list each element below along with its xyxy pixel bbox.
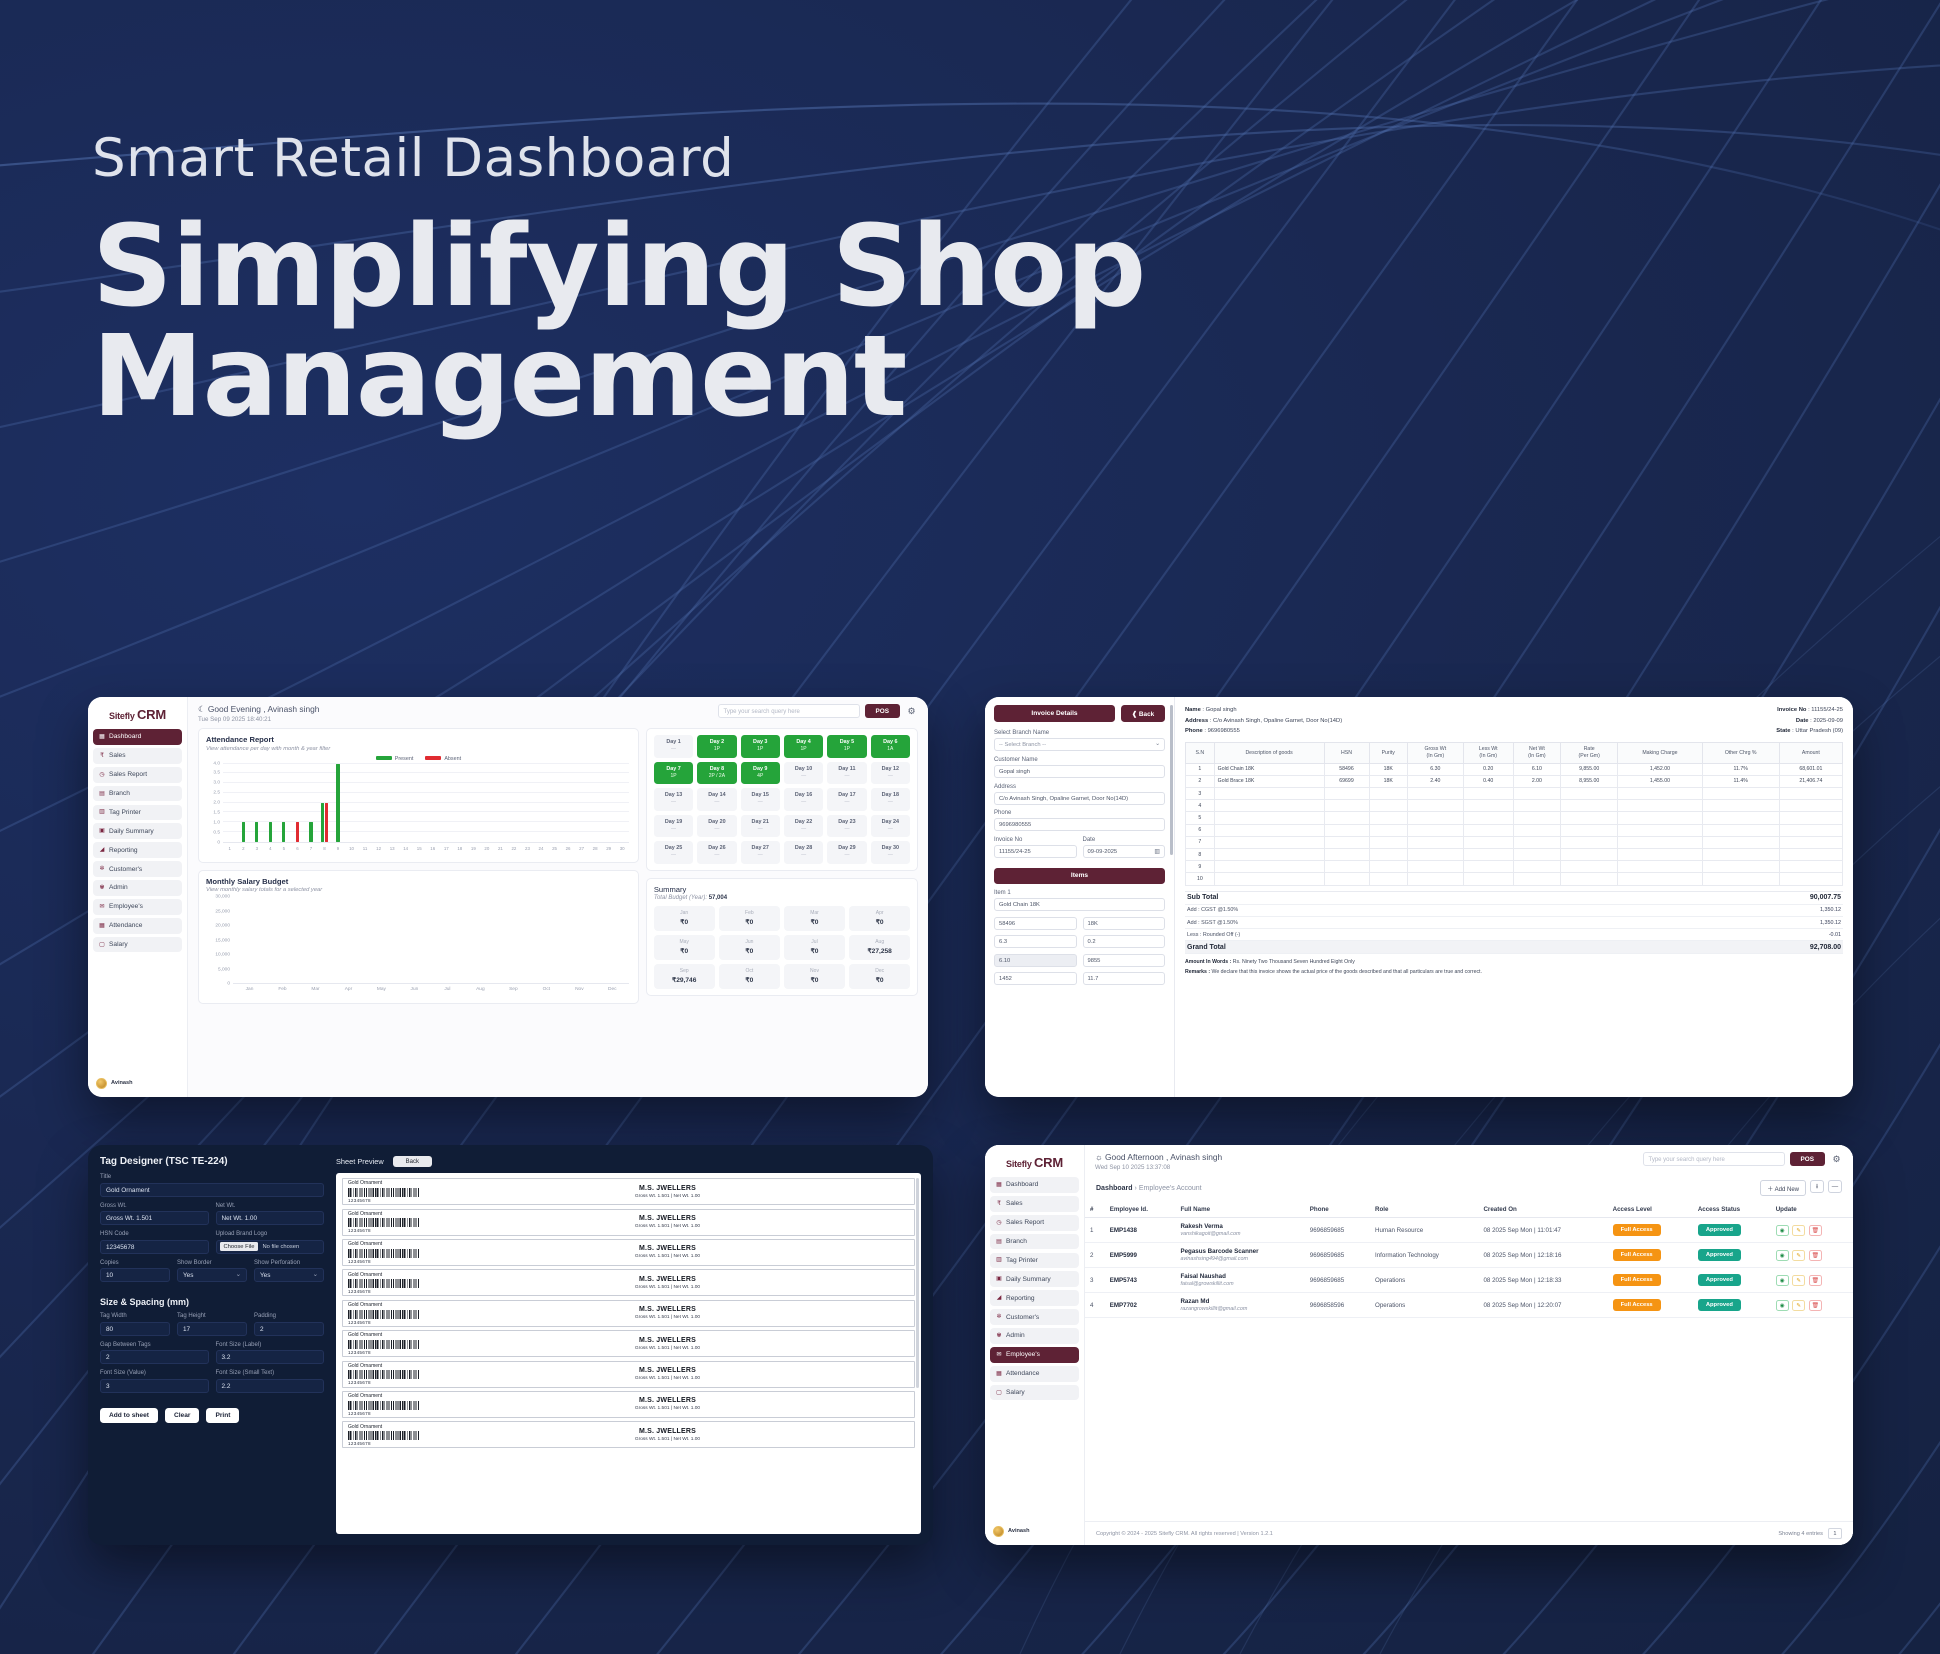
day-cell[interactable]: Day 10— (784, 762, 823, 785)
day-cell[interactable]: Day 29— (827, 841, 866, 864)
total-row: Add : SGST @1.50%1,350.12 (1185, 917, 1843, 929)
status-badge[interactable]: Approved (1698, 1299, 1741, 1311)
update-cell: ◉✎🗑 (1771, 1268, 1853, 1293)
day-cell[interactable]: Day 16— (784, 788, 823, 811)
sidebar-item-dashboard[interactable]: ▦Dashboard (93, 729, 182, 745)
item1-gross-input[interactable]: 6.3 (994, 935, 1077, 948)
day-value: — (871, 852, 910, 859)
month-label: Nov (784, 968, 845, 974)
item1-desc-input[interactable]: Gold Chain 18K (994, 898, 1165, 911)
gap-label: Gap Between Tags (100, 1342, 209, 1348)
table-cell (1463, 824, 1513, 836)
total-value: 1,350.12 (1731, 907, 1841, 913)
access-level-cell: Full Access (1608, 1293, 1693, 1318)
sidebar-item-attendance[interactable]: ▦Attendance (93, 918, 182, 934)
sidebar-item-label: Daily Summary (1006, 1276, 1051, 1283)
month-cell: Jul₹0 (784, 935, 845, 960)
sidebar-item-label: Dashboard (1006, 1181, 1038, 1188)
month-label: Feb (719, 910, 780, 916)
day-cell[interactable]: Day 23— (827, 815, 866, 838)
tag-title: Gold Ornament (348, 1241, 420, 1247)
table-cell (1513, 824, 1560, 836)
table-cell (1407, 861, 1463, 873)
print-button[interactable]: Print (206, 1408, 239, 1423)
table-cell: 0.20 (1463, 763, 1513, 775)
table-cell (1407, 848, 1463, 860)
back-button[interactable]: ❰ Back (1121, 705, 1165, 722)
sidebar-item-employee-s[interactable]: ✉Employee's (990, 1347, 1079, 1363)
gear-icon[interactable]: ⚙ (1830, 1153, 1843, 1166)
file-icon: ▣ (99, 828, 105, 834)
add-to-sheet-button[interactable]: Add to sheet (100, 1408, 158, 1423)
tag-number: 12345678 (348, 1380, 420, 1385)
sidebar-item-label: Employee's (1006, 1351, 1040, 1358)
sidebar-item-customer-s[interactable]: ✲Customer's (93, 861, 182, 877)
hsn-code-label: HSN Code (100, 1231, 209, 1237)
bar-slot (264, 764, 278, 842)
day-label: Day 27 (741, 845, 780, 852)
x-tick: 21 (494, 844, 508, 856)
legend-absent: Absent (425, 756, 461, 762)
x-tick: Jun (398, 985, 431, 997)
sidebar-item-admin[interactable]: ✾Admin (93, 880, 182, 896)
moon-icon: ☾ (198, 704, 206, 714)
pencil-icon[interactable]: ✎ (1792, 1225, 1805, 1236)
month-cell: Dec₹0 (849, 964, 910, 989)
tag-title-label: Title (100, 1174, 324, 1180)
day-cell[interactable]: Day 24— (871, 815, 910, 838)
tag-right: M.S. JWELLERSGross Wt. 1.501 | Net Wt. 1… (426, 1306, 909, 1320)
bar-absent (325, 803, 328, 842)
invoice-window: Invoice Details ❰ Back Select Branch Nam… (985, 697, 1853, 1097)
day-cell[interactable]: Day 61A (871, 735, 910, 758)
day-value: — (827, 826, 866, 833)
trash-icon[interactable]: 🗑 (1809, 1300, 1822, 1311)
x-tick: 23 (521, 844, 535, 856)
day-label: Day 7 (654, 766, 693, 773)
y-tick: 4.0 (213, 761, 220, 766)
status-badge[interactable]: Approved (1698, 1249, 1741, 1261)
pagination: Showing 4 entries 1 (1778, 1528, 1842, 1539)
net-wt-input[interactable]: Net Wt. 1.00 (216, 1211, 325, 1225)
table-cell (1324, 873, 1369, 885)
table-cell (1324, 788, 1369, 800)
table-cell: 7 (1186, 836, 1215, 848)
day-cell[interactable]: Day 41P (784, 735, 823, 758)
month-value: ₹0 (719, 918, 780, 926)
status-badge[interactable]: Approved (1698, 1224, 1741, 1236)
eye-icon[interactable]: ◉ (1776, 1250, 1789, 1261)
month-value: ₹0 (784, 947, 845, 955)
show-perforation-label: Show Perforation (254, 1260, 324, 1266)
sidebar-item-admin[interactable]: ✾Admin (990, 1328, 1079, 1344)
access-level-badge[interactable]: Full Access (1613, 1274, 1661, 1286)
access-status-cell: Approved (1693, 1268, 1771, 1293)
tag-left: Gold Ornament12345678 (348, 1363, 420, 1386)
employee-phone: 9696859685 (1305, 1218, 1370, 1243)
pos-button[interactable]: POS (1790, 1152, 1826, 1166)
gear-icon[interactable]: ⚙ (905, 705, 918, 718)
table-row: 10 (1186, 873, 1843, 885)
table-cell (1779, 836, 1842, 848)
day-cell[interactable]: Day 31P (741, 735, 780, 758)
sidebar-user[interactable]: Avinash (93, 1074, 182, 1093)
sidebar-item-customer-s[interactable]: ✲Customer's (990, 1309, 1079, 1325)
add-new-button[interactable]: ＋ Add New (1760, 1180, 1806, 1196)
bar-slot (318, 764, 332, 842)
bar-slot (467, 764, 481, 842)
eye-icon[interactable]: ◉ (1776, 1300, 1789, 1311)
x-tick: Jan (233, 985, 266, 997)
logo-file-input[interactable]: Choose File No file chosen (216, 1240, 325, 1254)
invoice-no-input[interactable]: 11155/24-25 (994, 845, 1077, 858)
app-logo: Sitefly CRM (93, 703, 182, 729)
sidebar-item-attendance[interactable]: ▦Attendance (990, 1366, 1079, 1382)
bar-present (309, 822, 312, 842)
sidebar-item-reporting[interactable]: ◢Reporting (990, 1290, 1079, 1306)
bar-slot (575, 764, 589, 842)
table-cell (1702, 800, 1779, 812)
font-size-value-input[interactable]: 3 (100, 1379, 209, 1393)
sidebar-item-employee-s[interactable]: ✉Employee's (93, 899, 182, 915)
sidebar-user[interactable]: Avinash (990, 1522, 1079, 1541)
x-tick: 25 (548, 844, 562, 856)
pencil-icon[interactable]: ✎ (1792, 1250, 1805, 1261)
trash-icon[interactable]: 🗑 (1809, 1225, 1822, 1236)
sidebar-item-branch[interactable]: ▤Branch (93, 786, 182, 802)
page-number[interactable]: 1 (1828, 1528, 1842, 1539)
bar-slot (494, 764, 508, 842)
table-cell (1561, 848, 1618, 860)
font-size-small-input[interactable]: 2.2 (216, 1379, 325, 1393)
month-value: ₹0 (719, 947, 780, 955)
tag-right: M.S. JWELLERSGross Wt. 1.501 | Net Wt. 1… (426, 1367, 909, 1381)
showing-entries: Showing 4 entries (1778, 1531, 1822, 1537)
search-input[interactable]: Type your search query here (718, 704, 860, 718)
day-cell[interactable]: Day 1— (654, 735, 693, 758)
sidebar-item-dashboard[interactable]: ▦Dashboard (990, 1177, 1079, 1193)
item1-label: Item 1 (994, 890, 1165, 896)
invoice-remarks: Remarks : We declare that this invoice s… (1185, 968, 1843, 978)
item1-purity-input[interactable]: 18K (1083, 917, 1166, 930)
trash-icon[interactable]: 🗑 (1809, 1275, 1822, 1286)
minus-icon[interactable]: — (1828, 1180, 1842, 1193)
employee-created: 08 2025 Sep Mon | 12:18:33 (1478, 1268, 1607, 1293)
day-grid: Day 1—Day 21PDay 31PDay 41PDay 51PDay 61… (654, 735, 910, 864)
barcode-icon (348, 1279, 420, 1288)
day-label: Day 14 (697, 792, 736, 799)
pencil-icon[interactable]: ✎ (1792, 1300, 1805, 1311)
tag-weights: Gross Wt. 1.501 | Net Wt. 1.00 (426, 1406, 909, 1411)
download-icon[interactable]: ⭳ (1810, 1180, 1824, 1193)
show-perforation-select[interactable]: Yes (254, 1268, 324, 1282)
column-header: Created On (1478, 1201, 1607, 1218)
sidebar-item-daily-summary[interactable]: ▣Daily Summary (93, 823, 182, 839)
table-cell: 21,406.74 (1779, 775, 1842, 787)
sidebar-item-sales-report[interactable]: ◷Sales Report (990, 1215, 1079, 1231)
item1-rate-input[interactable]: 9855 (1083, 954, 1166, 967)
day-value: — (697, 799, 736, 806)
table-cell (1561, 800, 1618, 812)
barcode-icon (348, 1249, 420, 1258)
item1-making-input[interactable]: 1452 (994, 972, 1077, 985)
font-size-label-input[interactable]: 3.2 (216, 1350, 325, 1364)
choose-file-button[interactable]: Choose File (220, 1242, 259, 1251)
summary-total-label: Total Budget (Year): (654, 895, 707, 901)
day-cell[interactable]: Day 20— (697, 815, 736, 838)
day-cell[interactable]: Day 26— (697, 841, 736, 864)
barcode-icon (348, 1218, 420, 1227)
date-input[interactable]: 09-09-2025 (1083, 845, 1166, 858)
table-cell (1618, 788, 1702, 800)
table-cell (1214, 861, 1324, 873)
column-header: Less Wt (In Gm) (1463, 743, 1513, 764)
sidebar-item-label: Branch (109, 790, 130, 797)
x-tick: Mar (299, 985, 332, 997)
sidebar-user-name: Avinash (111, 1080, 133, 1087)
item1-less-input[interactable]: 0.2 (1083, 935, 1166, 948)
total-value: 1,350.12 (1731, 920, 1841, 926)
hero-eyebrow: Smart Retail Dashboard (92, 128, 1145, 189)
attendance-subtitle: View attendance per day with month & yea… (206, 746, 631, 752)
attendance-report-card: Attendance Report View attendance per da… (198, 728, 639, 863)
column-header: Employee Id. (1105, 1201, 1176, 1218)
day-label: Day 15 (741, 792, 780, 799)
sidebar-item-sales[interactable]: ₹Sales (990, 1196, 1079, 1212)
table-cell: 10 (1186, 873, 1215, 885)
breadcrumb-separator: › (1135, 1185, 1137, 1192)
day-cell[interactable]: Day 14— (697, 788, 736, 811)
month-cell: Apr₹0 (849, 906, 910, 931)
day-label: Day 17 (827, 792, 866, 799)
trash-icon[interactable]: 🗑 (1809, 1250, 1822, 1261)
y-tick: 3.5 (213, 771, 220, 776)
table-cell (1561, 861, 1618, 873)
access-level-badge[interactable]: Full Access (1613, 1249, 1661, 1261)
address-input[interactable]: C/o Avinash Singh, Opaline Garnet, Door … (994, 792, 1165, 805)
month-label: Jan (654, 910, 715, 916)
day-cell[interactable]: Day 25— (654, 841, 693, 864)
bar-group (223, 764, 629, 842)
padding-input[interactable]: 2 (254, 1322, 324, 1336)
month-value: ₹0 (784, 918, 845, 926)
day-cell[interactable]: Day 28— (784, 841, 823, 864)
item1-hsn-input[interactable]: 58496 (994, 917, 1077, 930)
sidebar-item-label: Reporting (1006, 1295, 1035, 1302)
sidebar-item-sales[interactable]: ₹Sales (93, 748, 182, 764)
day-label: Day 5 (827, 739, 866, 746)
tag-weights: Gross Wt. 1.501 | Net Wt. 1.00 (426, 1194, 909, 1199)
tag-weights: Gross Wt. 1.501 | Net Wt. 1.00 (426, 1315, 909, 1320)
eye-icon[interactable]: ◉ (1776, 1225, 1789, 1236)
table-cell (1702, 788, 1779, 800)
gross-wt-input[interactable]: Gross Wt. 1.501 (100, 1211, 209, 1225)
tag-brand: M.S. JWELLERS (426, 1397, 909, 1404)
clear-button[interactable]: Clear (165, 1408, 200, 1423)
day-cell[interactable]: Day 30— (871, 841, 910, 864)
table-cell (1214, 824, 1324, 836)
printer-icon: ▥ (996, 1257, 1002, 1263)
invoice-details-button[interactable]: Invoice Details (994, 705, 1115, 722)
show-border-select[interactable]: Yes (177, 1268, 247, 1282)
day-cell[interactable]: Day 12— (871, 762, 910, 785)
day-cell[interactable]: Day 21— (741, 815, 780, 838)
tag-title: Gold Ornament (348, 1272, 420, 1278)
table-cell (1561, 812, 1618, 824)
sidebar-item-salary[interactable]: ▢Salary (93, 937, 182, 953)
tag-designer-title: Tag Designer (TSC TE-224) (100, 1156, 324, 1167)
barcode-icon (348, 1188, 420, 1197)
bar-slot (399, 764, 413, 842)
dashboard-window: Sitefly CRM ▦Dashboard₹Sales◷Sales Repor… (88, 697, 928, 1097)
bar-slot (453, 764, 467, 842)
employee-id: EMP7702 (1105, 1293, 1176, 1318)
branch-select[interactable]: -- Select Branch -- (994, 738, 1165, 751)
report-icon: ◷ (996, 1220, 1002, 1226)
day-cell[interactable]: Day 94P (741, 762, 780, 785)
day-cell[interactable]: Day 71P (654, 762, 693, 785)
sidebar-item-sales-report[interactable]: ◷Sales Report (93, 767, 182, 783)
sidebar-item-salary[interactable]: ▢Salary (990, 1385, 1079, 1401)
day-cell[interactable]: Day 51P (827, 735, 866, 758)
day-cell[interactable]: Day 19— (654, 815, 693, 838)
table-cell (1463, 848, 1513, 860)
tag-height-input[interactable]: 17 (177, 1322, 247, 1336)
sheet-preview-panel: Sheet Preview Back Gold Ornament12345678… (336, 1145, 933, 1545)
pencil-icon[interactable]: ✎ (1792, 1275, 1805, 1286)
day-cell[interactable]: Day 21P (697, 735, 736, 758)
day-cell[interactable]: Day 18— (871, 788, 910, 811)
form-scrollbar[interactable] (1170, 705, 1173, 855)
plot-area (233, 897, 629, 984)
total-row: Add : CGST @1.50%1,350.12 (1185, 905, 1843, 917)
sheet-scrollbar[interactable] (916, 1178, 919, 1388)
sidebar-item-daily-summary[interactable]: ▣Daily Summary (990, 1271, 1079, 1287)
x-tick: 1 (223, 844, 237, 856)
table-cell (1779, 788, 1842, 800)
x-tick: 17 (440, 844, 454, 856)
hsn-code-input[interactable]: 12345678 (100, 1240, 209, 1254)
item1-net-input[interactable]: 6.10 (994, 954, 1077, 967)
access-level-badge[interactable]: Full Access (1613, 1224, 1661, 1236)
table-cell (1561, 873, 1618, 885)
table-cell (1618, 824, 1702, 836)
copies-input[interactable]: 10 (100, 1268, 170, 1282)
preview-back-button[interactable]: Back (393, 1156, 432, 1167)
tag-left: Gold Ornament12345678 (348, 1332, 420, 1355)
eye-icon[interactable]: ◉ (1776, 1275, 1789, 1286)
x-tick: 27 (575, 844, 589, 856)
day-cell[interactable]: Day 27— (741, 841, 780, 864)
table-cell: 11.7% (1702, 763, 1779, 775)
bar-present (282, 822, 285, 842)
table-cell (1702, 812, 1779, 824)
column-header: Description of goods (1214, 743, 1324, 764)
status-badge[interactable]: Approved (1698, 1274, 1741, 1286)
greeting: ☼ Good Afternoon , Avinash singh Wed Sep… (1095, 1152, 1222, 1171)
table-row: 5 (1186, 812, 1843, 824)
total-value: 90,007.75 (1731, 894, 1841, 901)
branch-label: Select Branch Name (994, 730, 1165, 736)
sidebar-item-branch[interactable]: ▤Branch (990, 1234, 1079, 1250)
items-button[interactable]: Items (994, 868, 1165, 885)
x-tick: 9 (331, 844, 345, 856)
day-cell[interactable]: Day 15— (741, 788, 780, 811)
phone-input[interactable]: 9696980555 (994, 818, 1165, 831)
tag-right: M.S. JWELLERSGross Wt. 1.501 | Net Wt. 1… (426, 1428, 909, 1442)
tag-width-input[interactable]: 80 (100, 1322, 170, 1336)
day-value: — (654, 826, 693, 833)
hero-title-line-2: Management (92, 312, 906, 442)
tag-left: Gold Ornament12345678 (348, 1424, 420, 1447)
day-cell[interactable]: Day 82P / 2A (697, 762, 736, 785)
table-cell (1618, 836, 1702, 848)
bar-slot (345, 764, 359, 842)
sidebar-nav: ▦Dashboard₹Sales◷Sales Report▤Branch▥Tag… (990, 1177, 1079, 1404)
breadcrumb-root[interactable]: Dashboard (1096, 1185, 1133, 1192)
table-cell (1214, 812, 1324, 824)
employee-phone: 9696859685 (1305, 1243, 1370, 1268)
tag-title-input[interactable]: Gold Ornament (100, 1183, 324, 1197)
day-cell[interactable]: Day 11— (827, 762, 866, 785)
x-tick: 18 (453, 844, 467, 856)
sidebar-item-label: Salary (109, 941, 128, 948)
pos-button[interactable]: POS (865, 704, 901, 718)
search-input[interactable]: Type your search query here (1643, 1152, 1785, 1166)
invoice-name-row: Name : Gopal singh (1185, 705, 1342, 716)
month-cell: Nov₹0 (784, 964, 845, 989)
bar-slot (372, 764, 386, 842)
tag-weights: Gross Wt. 1.501 | Net Wt. 1.00 (426, 1224, 909, 1229)
tag-brand: M.S. JWELLERS (426, 1185, 909, 1192)
chart-icon: ◢ (99, 847, 105, 853)
tag-weights: Gross Wt. 1.501 | Net Wt. 1.00 (426, 1346, 909, 1351)
table-cell: 18K (1369, 763, 1407, 775)
building-icon: ▤ (99, 791, 105, 797)
item1-other-input[interactable]: 11.7 (1083, 972, 1166, 985)
day-cell[interactable]: Day 22— (784, 815, 823, 838)
access-level-badge[interactable]: Full Access (1613, 1299, 1661, 1311)
month-cell: Sep₹29,746 (654, 964, 715, 989)
sidebar-item-reporting[interactable]: ◢Reporting (93, 842, 182, 858)
month-label: Sep (654, 968, 715, 974)
table-cell (1702, 861, 1779, 873)
day-label: Day 24 (871, 819, 910, 826)
table-cell (1407, 812, 1463, 824)
day-label: Day 21 (741, 819, 780, 826)
day-cell[interactable]: Day 13— (654, 788, 693, 811)
sidebar-item-tag-printer[interactable]: ▥Tag Printer (990, 1253, 1079, 1269)
legend-present: Present (376, 756, 414, 762)
gap-input[interactable]: 2 (100, 1350, 209, 1364)
column-header: Other Chrg % (1702, 743, 1779, 764)
row-index: 4 (1085, 1293, 1105, 1318)
month-cell: Jan₹0 (654, 906, 715, 931)
day-cell[interactable]: Day 17— (827, 788, 866, 811)
tag-number: 12345678 (348, 1198, 420, 1203)
greeting-text: Good Evening , Avinash singh (208, 704, 320, 714)
table-cell (1369, 800, 1407, 812)
barcode-icon (348, 1310, 420, 1319)
day-value: — (784, 852, 823, 859)
day-label: Day 1 (654, 739, 693, 746)
sidebar-item-tag-printer[interactable]: ▥Tag Printer (93, 805, 182, 821)
day-label: Day 8 (697, 766, 736, 773)
employee-created: 08 2025 Sep Mon | 11:01:47 (1478, 1218, 1607, 1243)
table-cell: 18K (1369, 775, 1407, 787)
customer-input[interactable]: Gopal singh (994, 765, 1165, 778)
table-cell (1463, 788, 1513, 800)
